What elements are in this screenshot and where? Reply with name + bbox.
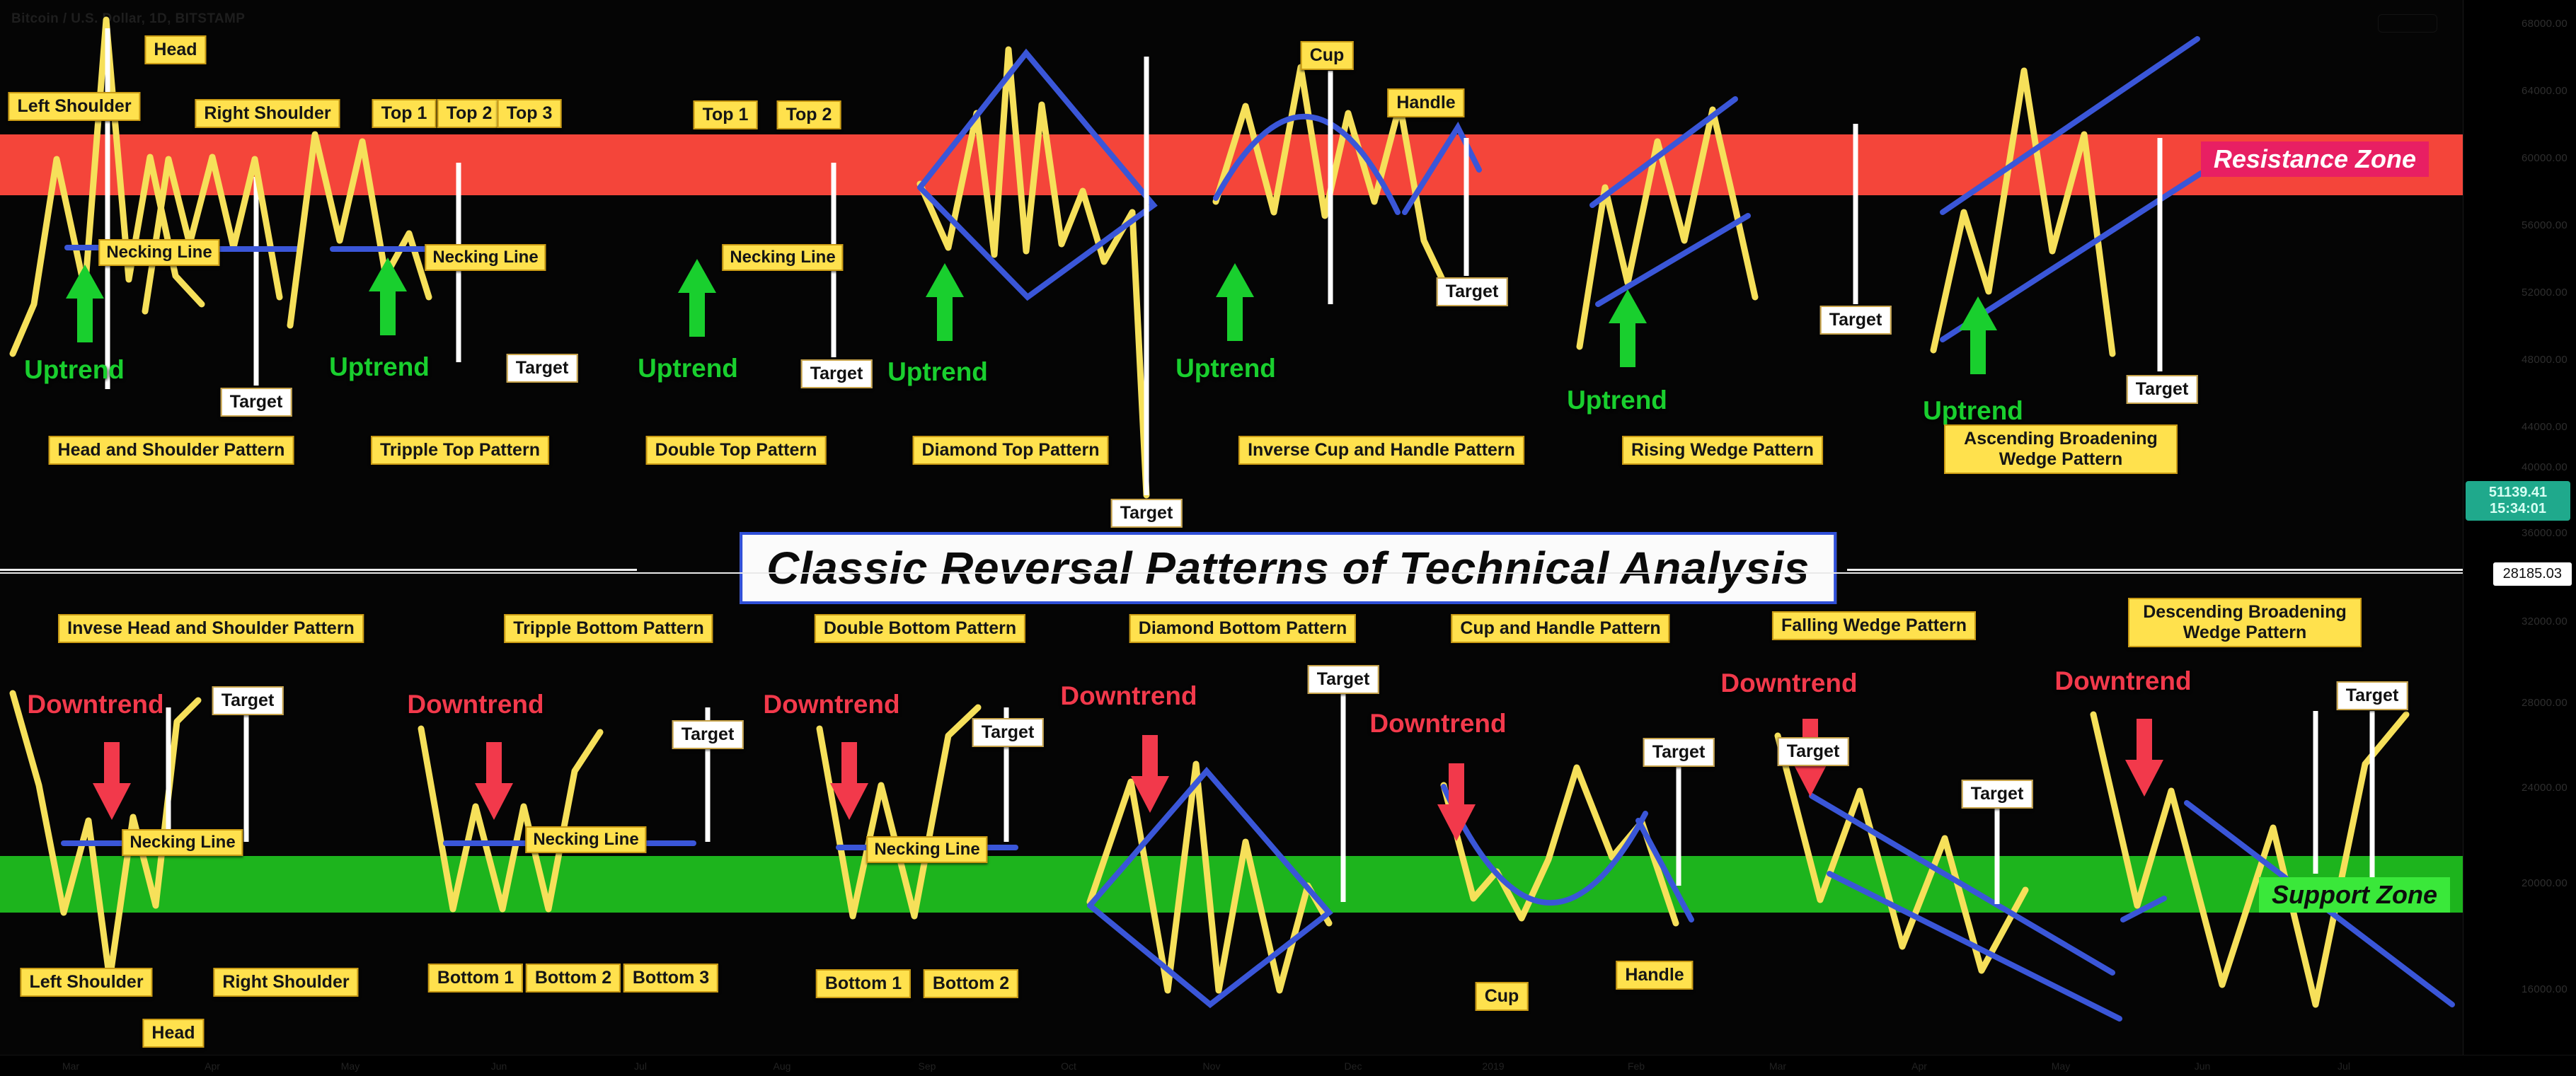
month-tick-8: Nov: [1203, 1060, 1221, 1072]
label-left-shoulder-top: Left Shoulder: [8, 92, 140, 121]
pattern-label-descending-broadening-wedge: Descending Broadening Wedge Pattern: [2128, 598, 2362, 647]
label-necking-line-1: Necking Line: [98, 239, 219, 266]
month-tick-16: Jul: [2338, 1060, 2350, 1072]
last-price-line: [0, 572, 2463, 574]
label-necking-line-3: Necking Line: [722, 244, 843, 271]
downtrend-text-7: Downtrend: [2054, 666, 2191, 696]
price-tick-6: 44000.00: [2468, 421, 2568, 433]
pattern-label-head-and-shoulder: Head and Shoulder Pattern: [49, 436, 294, 465]
label-head-bottom: Head: [142, 1019, 204, 1048]
price-tick-5: 48000.00: [2468, 354, 2568, 366]
target-label-b6: Target: [1778, 737, 1849, 766]
label-bottom-1-a: Bottom 1: [428, 964, 523, 993]
price-tick-4: 52000.00: [2468, 287, 2568, 299]
price-tick-2: 60000.00: [2468, 152, 2568, 164]
downtrend-arrow-7: [2122, 716, 2166, 803]
label-bottom-3-a: Bottom 3: [623, 964, 718, 993]
target-label-b7: Target: [1962, 780, 2033, 809]
uptrend-arrow-3: [675, 256, 719, 343]
month-tick-13: Apr: [1911, 1060, 1927, 1072]
target-label-b2: Target: [672, 720, 744, 749]
price-tick-7: 40000.00: [2468, 461, 2568, 473]
target-label-b4: Target: [1308, 665, 1379, 694]
month-tick-4: Jul: [634, 1060, 647, 1072]
downtrend-arrow-4: [1128, 732, 1172, 819]
label-bottom-1-b: Bottom 1: [816, 969, 911, 998]
month-tick-12: Mar: [1769, 1060, 1786, 1072]
uptrend-text-4: Uptrend: [887, 357, 988, 387]
pattern-label-inverse-cup-and-handle: Inverse Cup and Handle Pattern: [1238, 436, 1524, 465]
uptrend-arrow-2: [366, 255, 410, 342]
target-label-b3: Target: [972, 718, 1044, 747]
target-label-7: Target: [2127, 375, 2198, 404]
downtrend-text-6: Downtrend: [1720, 669, 1857, 698]
last-price-label: 28185.03: [2493, 562, 2572, 586]
month-tick-2: May: [341, 1060, 360, 1072]
label-top-3-a: Top 3: [498, 99, 562, 128]
pattern-label-double-top: Double Top Pattern: [646, 436, 827, 465]
label-top-2-a: Top 2: [437, 99, 502, 128]
label-necking-line-b2: Necking Line: [525, 826, 646, 853]
downtrend-text-5: Downtrend: [1369, 709, 1506, 739]
downtrend-text-4: Downtrend: [1060, 681, 1197, 711]
pattern-label-tripple-top: Tripple Top Pattern: [371, 436, 549, 465]
uptrend-text-1: Uptrend: [24, 355, 125, 385]
target-label-2: Target: [507, 354, 578, 383]
downtrend-arrow-5: [1434, 760, 1478, 848]
target-label-6: Target: [1820, 306, 1892, 335]
label-bottom-2-a: Bottom 2: [526, 964, 621, 993]
label-cup-bottom: Cup: [1476, 982, 1529, 1011]
month-tick-7: Oct: [1061, 1060, 1076, 1072]
pattern-label-double-bottom: Double Bottom Pattern: [815, 614, 1025, 643]
pattern-label-inverse-head-and-shoulder: Invese Head and Shoulder Pattern: [58, 614, 364, 643]
uptrend-arrow-7: [1956, 294, 2000, 381]
downtrend-arrow-2: [472, 739, 516, 826]
price-tick-11: 24000.00: [2468, 782, 2568, 794]
label-top-2-b: Top 2: [777, 100, 841, 129]
price-tick-12: 20000.00: [2468, 877, 2568, 889]
price-tick-10: 28000.00: [2468, 697, 2568, 709]
label-left-shoulder-bottom: Left Shoulder: [20, 968, 152, 997]
downtrend-arrow-1: [90, 739, 134, 826]
price-tick-8: 36000.00: [2468, 527, 2568, 539]
uptrend-text-6: Uptrend: [1567, 386, 1667, 415]
month-tick-3: Jun: [491, 1060, 507, 1072]
month-tick-15: Jun: [2195, 1060, 2211, 1072]
downtrend-arrow-3: [827, 739, 871, 826]
label-right-shoulder-bottom: Right Shoulder: [213, 968, 358, 997]
uptrend-arrow-5: [1213, 260, 1257, 347]
label-top-1-b: Top 1: [694, 100, 758, 129]
center-rule-right: [1847, 569, 2463, 571]
month-tick-9: Dec: [1345, 1060, 1362, 1072]
uptrend-arrow-6: [1606, 287, 1650, 374]
month-tick-6: Sep: [919, 1060, 936, 1072]
label-handle-top: Handle: [1387, 88, 1464, 117]
price-tick-3: 56000.00: [2468, 219, 2568, 231]
month-tick-11: Feb: [1628, 1060, 1645, 1072]
pattern-label-cup-and-handle: Cup and Handle Pattern: [1451, 614, 1669, 643]
page-title: Classic Reversal Patterns of Technical A…: [740, 532, 1836, 604]
downtrend-text-1: Downtrend: [27, 690, 163, 719]
label-necking-line-b1: Necking Line: [122, 829, 243, 856]
label-handle-bottom: Handle: [1616, 961, 1693, 990]
uptrend-text-3: Uptrend: [638, 354, 738, 383]
current-price-badge: 51139.41 15:34:01: [2466, 481, 2570, 521]
pattern-label-falling-wedge: Falling Wedge Pattern: [1772, 611, 1976, 640]
downtrend-text-2: Downtrend: [407, 690, 544, 719]
price-tick-9: 32000.00: [2468, 615, 2568, 627]
label-necking-line-b3: Necking Line: [866, 836, 987, 863]
month-tick-5: Aug: [774, 1060, 791, 1072]
target-label-4: Target: [1111, 499, 1183, 528]
month-tick-10: 2019: [1482, 1060, 1504, 1072]
uptrend-text-2: Uptrend: [329, 352, 430, 382]
target-label-b5: Target: [1643, 738, 1715, 767]
month-tick-1: Apr: [205, 1060, 220, 1072]
price-tick-1: 64000.00: [2468, 85, 2568, 97]
pattern-label-rising-wedge: Rising Wedge Pattern: [1622, 436, 1823, 465]
pattern-label-ascending-broadening-wedge: Ascending Broadening Wedge Pattern: [1944, 424, 2178, 474]
uptrend-arrow-4: [923, 260, 967, 347]
label-top-1-a: Top 1: [372, 99, 437, 128]
support-zone-label: Support Zone: [2259, 877, 2450, 913]
current-price-value: 51139.41: [2489, 485, 2547, 500]
resistance-zone-label: Resistance Zone: [2201, 141, 2429, 177]
target-label-b1: Target: [212, 686, 284, 715]
target-label-b8: Target: [2337, 681, 2408, 710]
pattern-label-diamond-top: Diamond Top Pattern: [913, 436, 1109, 465]
uptrend-text-7: Uptrend: [1923, 396, 2023, 426]
label-bottom-2-b: Bottom 2: [924, 969, 1018, 998]
target-label-1: Target: [221, 388, 292, 417]
target-label-5: Target: [1437, 277, 1508, 306]
label-cup-top: Cup: [1301, 41, 1354, 70]
uptrend-text-5: Uptrend: [1175, 354, 1276, 383]
label-necking-line-2: Necking Line: [425, 244, 546, 271]
price-tick-13: 16000.00: [2468, 983, 2568, 995]
current-price-time: 15:34:01: [2468, 501, 2568, 517]
month-tick-14: May: [2052, 1060, 2070, 1072]
month-tick-0: Mar: [62, 1060, 79, 1072]
center-rule-left: [0, 569, 637, 571]
chart-canvas[interactable]: Bitcoin / U.S. Dollar, 1D, BITSTAMP: [0, 0, 2576, 1076]
downtrend-text-3: Downtrend: [763, 690, 899, 719]
label-right-shoulder-top: Right Shoulder: [195, 99, 340, 128]
label-head-top: Head: [144, 35, 206, 64]
price-tick-0: 68000.00: [2468, 18, 2568, 30]
target-label-3: Target: [801, 359, 873, 388]
pattern-label-tripple-bottom: Tripple Bottom Pattern: [504, 614, 713, 643]
uptrend-arrow-1: [63, 262, 107, 349]
pattern-label-diamond-bottom: Diamond Bottom Pattern: [1129, 614, 1356, 643]
